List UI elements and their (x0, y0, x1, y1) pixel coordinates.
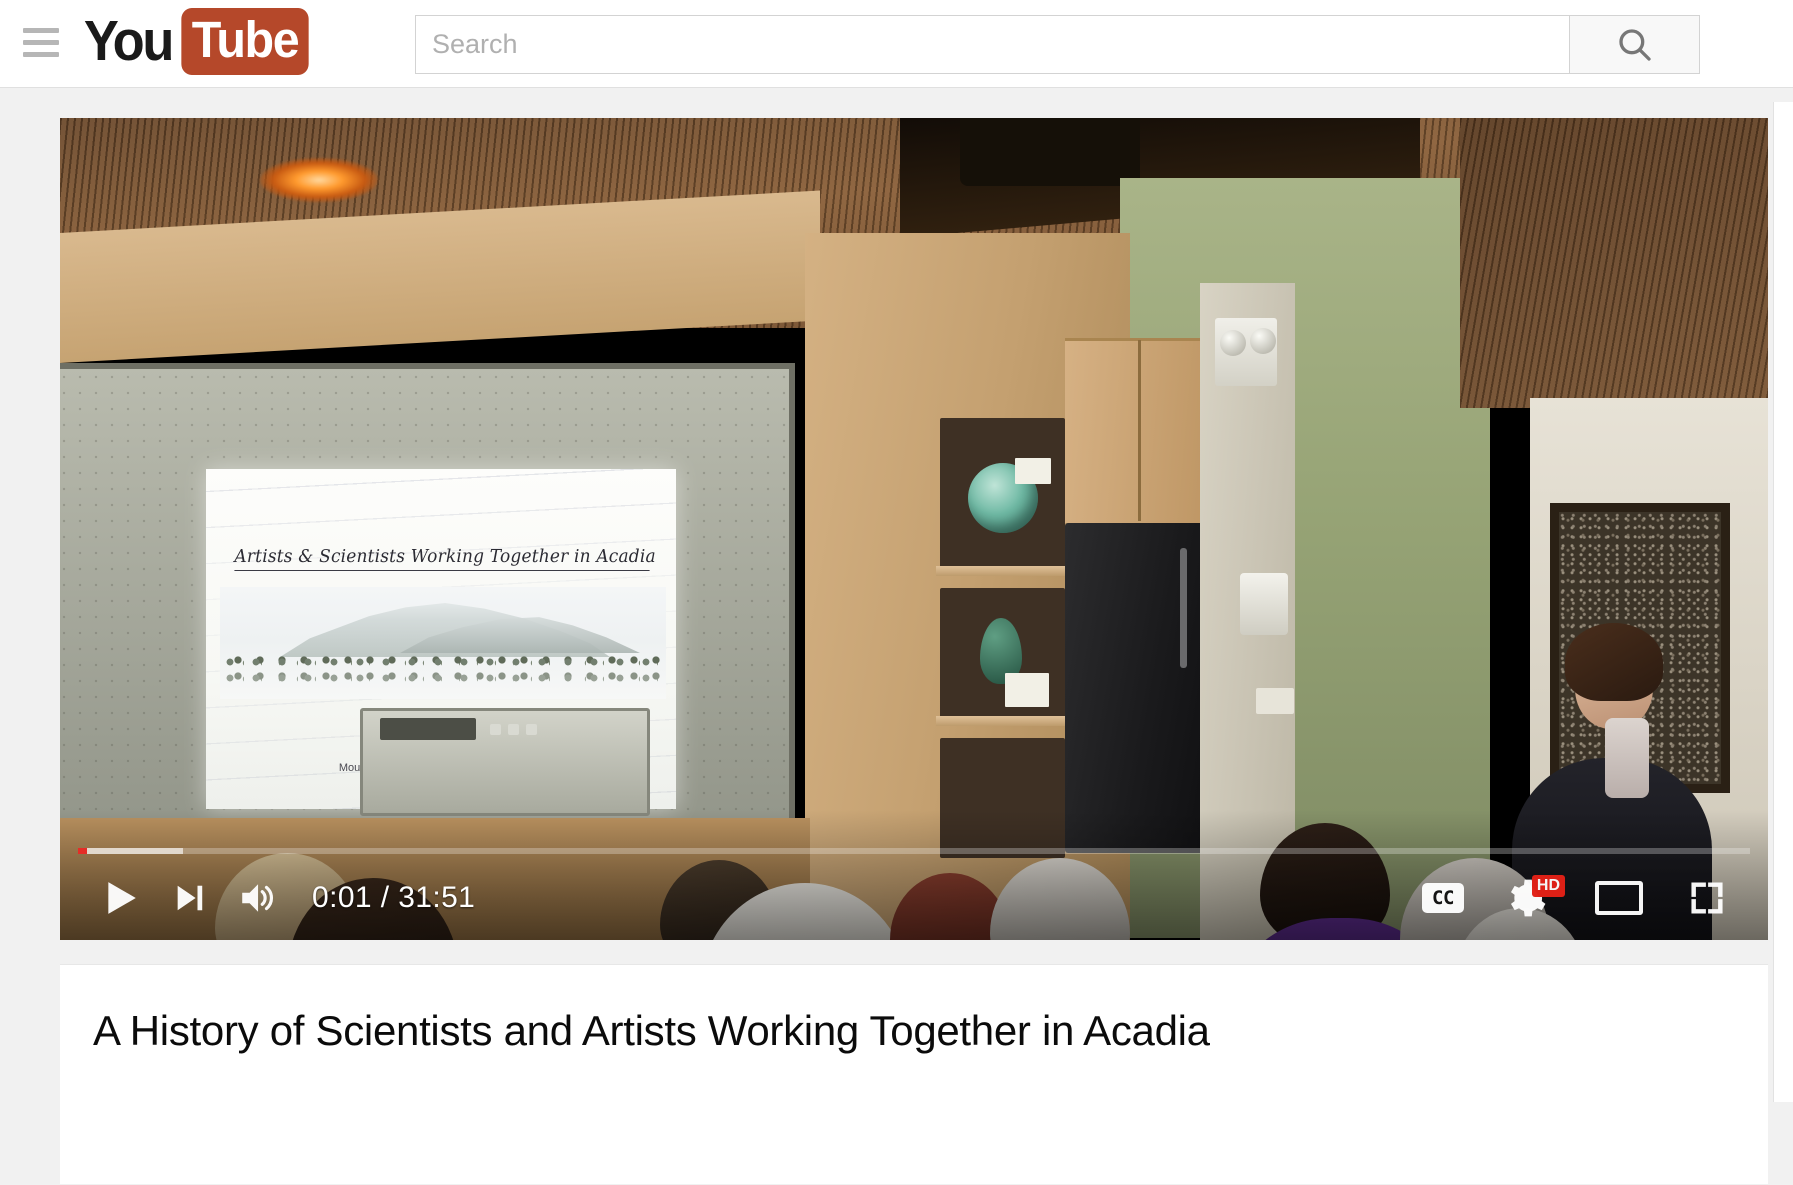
search-icon (1614, 24, 1656, 66)
hamburger-bar (23, 52, 59, 57)
controls-right-group: CC HD (1412, 867, 1768, 929)
next-video-button[interactable] (158, 867, 220, 929)
time-display: 0:01 / 31:51 (312, 881, 475, 915)
logo-tube-text: Tube (181, 8, 308, 75)
related-videos-sidebar (1773, 102, 1793, 1102)
shelf-niche (940, 738, 1065, 858)
hamburger-bar (23, 28, 59, 33)
shelf-label-card (1005, 673, 1049, 707)
right-ceiling-wood (1460, 118, 1768, 408)
hamburger-bar (23, 40, 59, 45)
shelf-label-card (1015, 458, 1051, 484)
page-body: Artists & Scientists Working Together in… (0, 88, 1793, 1185)
hamburger-menu-icon[interactable] (23, 26, 59, 58)
youtube-logo[interactable]: You Tube (80, 10, 312, 72)
video-player[interactable]: Artists & Scientists Working Together in… (60, 118, 1768, 940)
emergency-lamp (1220, 330, 1246, 356)
player-controls: 0:01 / 31:51 CC HD (60, 856, 1768, 940)
search-input[interactable] (415, 15, 1569, 74)
slide-landscape-illustration (220, 587, 666, 699)
av-button (526, 724, 537, 735)
next-video-icon (172, 880, 206, 916)
av-button (508, 724, 519, 735)
settings-gear-wrap: HD (1503, 874, 1559, 922)
refrigerator-handle (1180, 548, 1187, 668)
av-button (490, 724, 501, 735)
volume-icon (238, 879, 276, 917)
fullscreen-button[interactable] (1676, 867, 1738, 929)
progress-bar[interactable] (78, 848, 1750, 854)
av-control-panel (380, 718, 476, 740)
progress-buffered (78, 848, 183, 854)
search-button[interactable] (1569, 15, 1700, 74)
video-info-panel: A History of Scientists and Artists Work… (60, 964, 1768, 1184)
shelf-board (936, 566, 1069, 576)
captions-button[interactable]: CC (1412, 867, 1474, 929)
presenter-blouse (1605, 718, 1649, 798)
theater-mode-button[interactable] (1588, 867, 1650, 929)
emergency-lamp (1250, 328, 1276, 354)
progress-track (78, 848, 1750, 854)
progress-played (78, 848, 87, 854)
cabinet-divider (1138, 340, 1141, 521)
hd-quality-badge: HD (1532, 875, 1565, 897)
ceiling-projector (960, 118, 1140, 186)
volume-button[interactable] (226, 867, 288, 929)
ceiling-light (260, 158, 378, 202)
treeline (226, 665, 660, 682)
settings-button[interactable]: HD (1500, 867, 1562, 929)
wall-outlet (1256, 688, 1294, 714)
play-button[interactable] (90, 867, 152, 929)
fullscreen-icon (1687, 878, 1727, 918)
controls-left-group: 0:01 / 31:51 (60, 867, 475, 929)
treeline (226, 649, 660, 666)
shelf-board (936, 716, 1069, 726)
presenter-hair (1565, 623, 1663, 701)
logo-you-text: You (84, 13, 172, 70)
cc-icon: CC (1422, 883, 1464, 913)
video-frame: Artists & Scientists Working Together in… (60, 118, 1768, 940)
page-title: A History of Scientists and Artists Work… (93, 1007, 1210, 1055)
theater-mode-icon (1595, 881, 1643, 915)
slide-title: Artists & Scientists Working Together in… (234, 547, 649, 571)
soap-dispenser (1240, 573, 1288, 635)
play-icon (102, 878, 140, 918)
search-bar (415, 15, 1700, 74)
masthead: You Tube (0, 0, 1793, 88)
